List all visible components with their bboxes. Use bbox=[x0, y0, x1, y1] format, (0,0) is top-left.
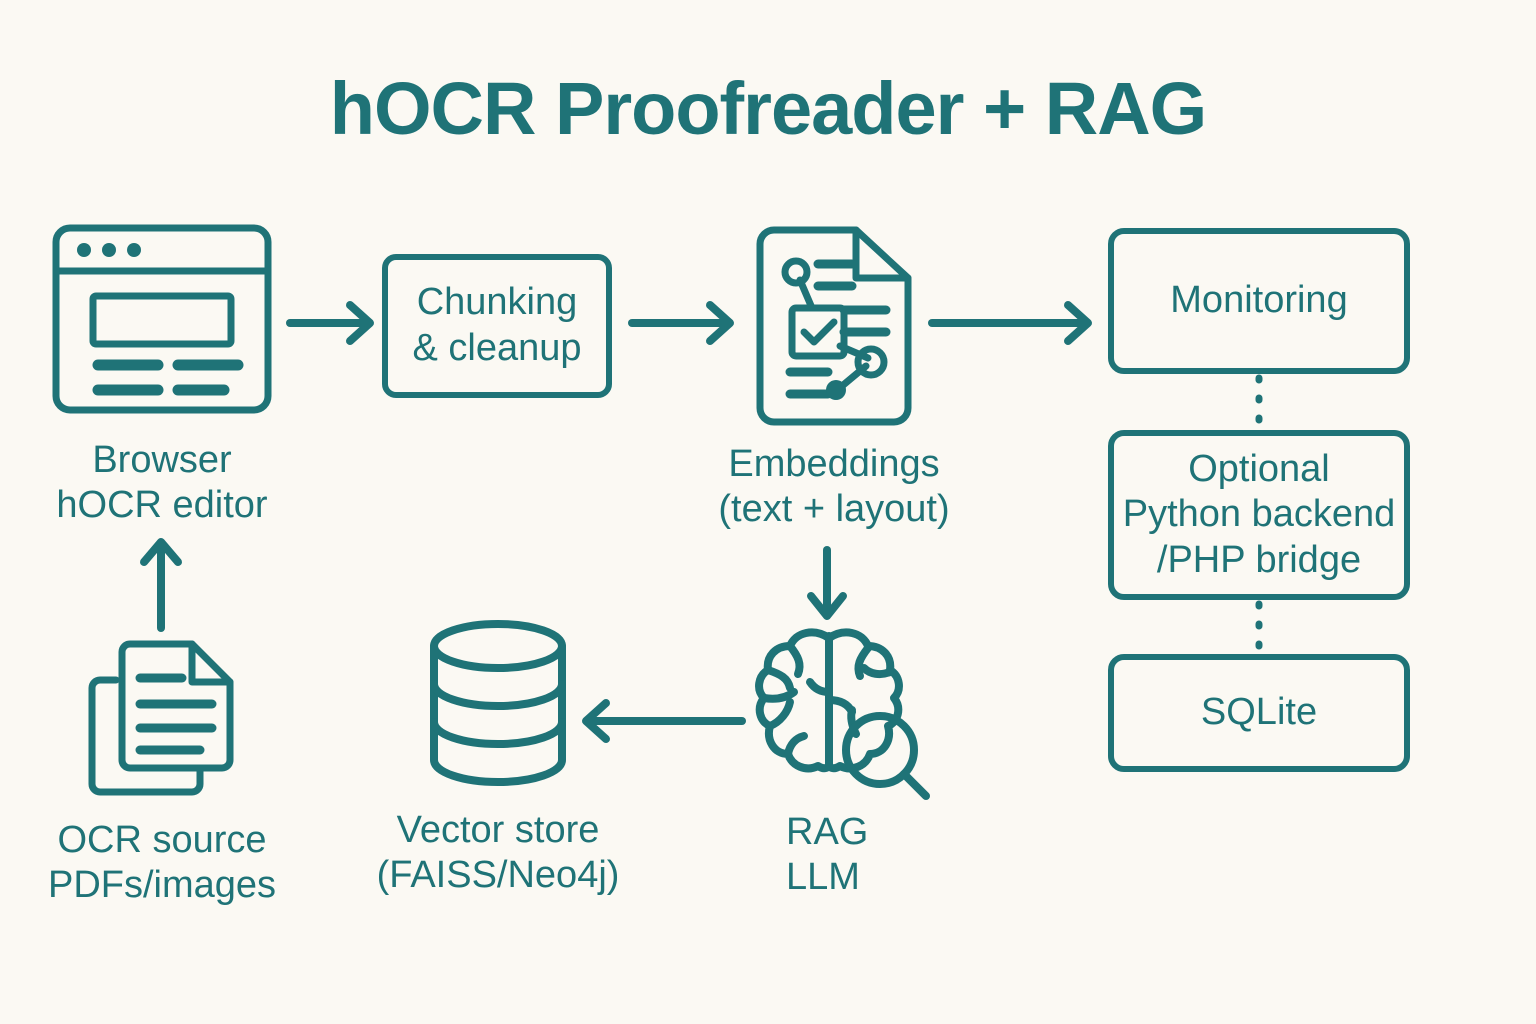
chunking-cleanup-box[interactable]: Chunking & cleanup bbox=[382, 254, 612, 398]
arrow-embeddings-to-rag bbox=[804, 546, 850, 622]
ocr-source-label: OCR source PDFs/images bbox=[12, 818, 312, 908]
rag-llm-label: RAG LLM bbox=[786, 810, 1006, 900]
diagram-canvas: hOCR Proofreader + RAG Browser hOCR edit… bbox=[0, 0, 1536, 1024]
dotted-connector-monitoring-backend bbox=[1255, 376, 1263, 430]
browser-editor-label: Browser hOCR editor bbox=[12, 438, 312, 528]
sqlite-box[interactable]: SQLite bbox=[1108, 654, 1410, 772]
document-network-icon bbox=[756, 226, 912, 426]
brain-search-icon bbox=[756, 626, 936, 798]
arrow-chunking-to-embeddings bbox=[630, 300, 742, 346]
page-title: hOCR Proofreader + RAG bbox=[0, 72, 1536, 146]
monitoring-box[interactable]: Monitoring bbox=[1108, 228, 1410, 374]
arrow-ocr-to-browser bbox=[138, 538, 184, 630]
vector-store-label: Vector store (FAISS/Neo4j) bbox=[348, 808, 648, 898]
dotted-connector-backend-sqlite bbox=[1255, 602, 1263, 656]
documents-stack-icon bbox=[88, 638, 234, 798]
optional-backend-box[interactable]: Optional Python backend /PHP bridge bbox=[1108, 430, 1410, 600]
arrow-embeddings-to-monitoring bbox=[930, 300, 1100, 346]
arrow-rag-to-vector-store bbox=[578, 698, 746, 744]
browser-window-icon bbox=[52, 224, 272, 414]
database-cylinder-icon bbox=[428, 620, 568, 786]
arrow-browser-to-chunking bbox=[288, 300, 382, 346]
embeddings-label: Embeddings (text + layout) bbox=[664, 442, 1004, 532]
